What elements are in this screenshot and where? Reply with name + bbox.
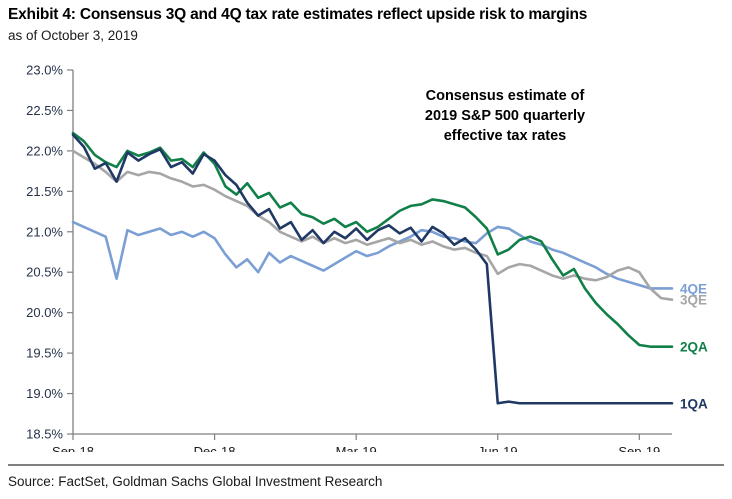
- page-title: Exhibit 4: Consensus 3Q and 4Q tax rate …: [8, 6, 724, 24]
- series-labels: 4QE3QE2QA1QA: [680, 281, 708, 411]
- y-tick-label: 23.0%: [26, 63, 63, 78]
- series-label-2qa: 2QA: [680, 340, 708, 355]
- annotation-line-3: effective tax rates: [444, 128, 567, 144]
- x-tick-label: Mar-19: [336, 444, 377, 452]
- x-tick-label: Sep-19: [618, 444, 660, 452]
- y-tick-label: 22.0%: [26, 143, 63, 158]
- footer-divider: [8, 464, 724, 466]
- annotation-line-2: 2019 S&P 500 quarterly: [425, 108, 585, 124]
- series-line-2qa: [73, 133, 672, 347]
- y-tick-label: 20.5%: [26, 265, 63, 280]
- annotation-line-1: Consensus estimate of: [426, 88, 585, 104]
- chart-annotation: Consensus estimate of 2019 S&P 500 quart…: [425, 88, 585, 144]
- x-axis-ticks: Sep-18Dec-18Mar-19Jun-19Sep-19: [52, 434, 660, 452]
- y-tick-label: 19.0%: [26, 386, 63, 401]
- series-line-3qe: [73, 151, 672, 300]
- x-tick-label: Dec-18: [194, 444, 236, 452]
- source-note: Source: FactSet, Goldman Sachs Global In…: [8, 474, 382, 489]
- y-tick-label: 19.5%: [26, 346, 63, 361]
- series-label-1qa: 1QA: [680, 396, 708, 411]
- y-tick-label: 18.5%: [26, 427, 63, 442]
- page-subtitle: as of October 3, 2019: [8, 28, 138, 43]
- x-tick-label: Sep-18: [52, 444, 94, 452]
- y-tick-label: 21.0%: [26, 224, 63, 239]
- y-axis-ticks: 18.5%19.0%19.5%20.0%20.5%21.0%21.5%22.0%…: [26, 63, 73, 442]
- x-tick-label: Jun-19: [478, 444, 518, 452]
- line-chart: 18.5%19.0%19.5%20.0%20.5%21.0%21.5%22.0%…: [0, 52, 732, 452]
- y-tick-label: 21.5%: [26, 184, 63, 199]
- series-lines: [73, 133, 672, 403]
- chart-container: 18.5%19.0%19.5%20.0%20.5%21.0%21.5%22.0%…: [0, 52, 732, 452]
- series-label-3qe: 3QE: [680, 293, 707, 308]
- y-tick-label: 20.0%: [26, 305, 63, 320]
- y-tick-label: 22.5%: [26, 103, 63, 118]
- axis-lines: [73, 70, 672, 434]
